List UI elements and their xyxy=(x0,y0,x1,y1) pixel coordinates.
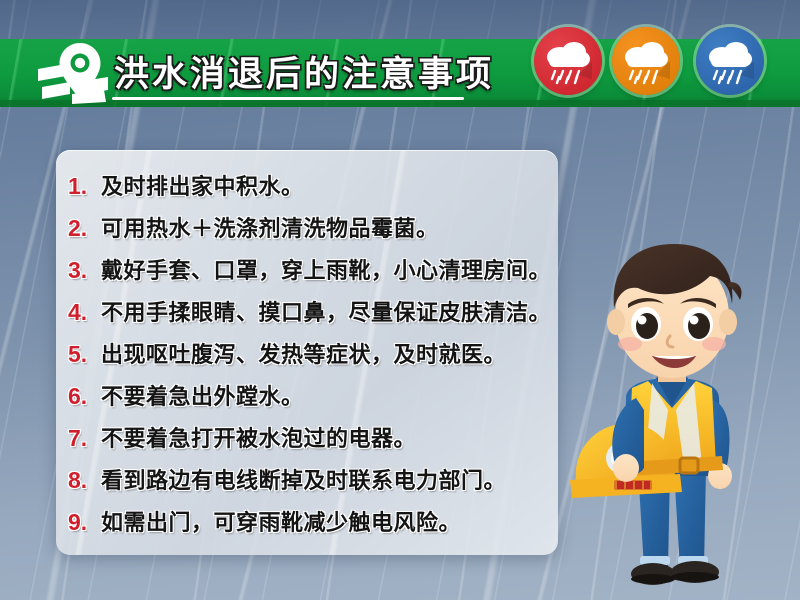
title-underline xyxy=(112,97,464,100)
list-item-text: 不要着急打开被水泡过的电器。 xyxy=(101,421,416,453)
map-pin-icon xyxy=(36,42,110,106)
list-item-text: 出现呕吐腹泻、发热等症状，及时就医。 xyxy=(101,337,506,369)
list-item-number: 1. xyxy=(68,173,101,200)
list-item: 2. 可用热水＋洗涤剂清洗物品霉菌。 xyxy=(56,211,558,253)
banner-bottom-edge xyxy=(0,100,800,107)
cloud-rain-icon xyxy=(696,27,764,95)
list-item-number: 9. xyxy=(68,509,101,536)
list-item: 4. 不用手揉眼睛、摸口鼻，尽量保证皮肤清洁。 xyxy=(56,295,558,337)
list-item-number: 4. xyxy=(68,299,101,326)
list-item-text: 不要着急出外蹚水。 xyxy=(101,379,304,411)
list-item: 7. 不要着急打开被水泡过的电器。 xyxy=(56,421,558,463)
list-item: 1. 及时排出家中积水。 xyxy=(56,169,558,211)
tips-list: 1. 及时排出家中积水。 2. 可用热水＋洗涤剂清洗物品霉菌。 3. 戴好手套、… xyxy=(56,150,558,547)
list-item: 6. 不要着急出外蹚水。 xyxy=(56,379,558,421)
header-top-strip xyxy=(0,0,800,39)
list-item-text: 可用热水＋洗涤剂清洗物品霉菌。 xyxy=(101,211,439,243)
cloud-rain-icon xyxy=(534,27,602,95)
list-item: 5. 出现呕吐腹泻、发热等症状，及时就医。 xyxy=(56,337,558,379)
list-item-number: 3. xyxy=(68,257,101,284)
flood-safety-poster: 洪水消退后的注意事项 xyxy=(0,0,800,600)
list-item-number: 6. xyxy=(68,383,101,410)
list-item: 3. 戴好手套、口罩，穿上雨靴，小心清理房间。 xyxy=(56,253,558,295)
tips-panel: 1. 及时排出家中积水。 2. 可用热水＋洗涤剂清洗物品霉菌。 3. 戴好手套、… xyxy=(56,150,558,555)
list-item: 9. 如需出门，可穿雨靴减少触电风险。 xyxy=(56,505,558,547)
list-item-number: 8. xyxy=(68,467,101,494)
list-item-text: 不用手揉眼睛、摸口鼻，尽量保证皮肤清洁。 xyxy=(101,295,551,327)
list-item-number: 7. xyxy=(68,425,101,452)
cloud-rain-icon xyxy=(612,27,680,95)
list-item-text: 看到路边有电线断掉及时联系电力部门。 xyxy=(101,463,506,495)
list-item-text: 戴好手套、口罩，穿上雨靴，小心清理房间。 xyxy=(101,253,551,285)
list-item-number: 2. xyxy=(68,215,101,242)
rain-warning-blue-badge[interactable] xyxy=(696,27,764,95)
list-item-text: 及时排出家中积水。 xyxy=(101,169,304,201)
rain-warning-orange-badge[interactable] xyxy=(612,27,680,95)
rescue-worker-boy-illustration xyxy=(552,238,800,600)
list-item: 8. 看到路边有电线断掉及时联系电力部门。 xyxy=(56,463,558,505)
list-item-number: 5. xyxy=(68,341,101,368)
list-item-text: 如需出门，可穿雨靴减少触电风险。 xyxy=(101,505,461,537)
page-title: 洪水消退后的注意事项 xyxy=(114,46,494,97)
rain-warning-red-badge[interactable] xyxy=(534,27,602,95)
